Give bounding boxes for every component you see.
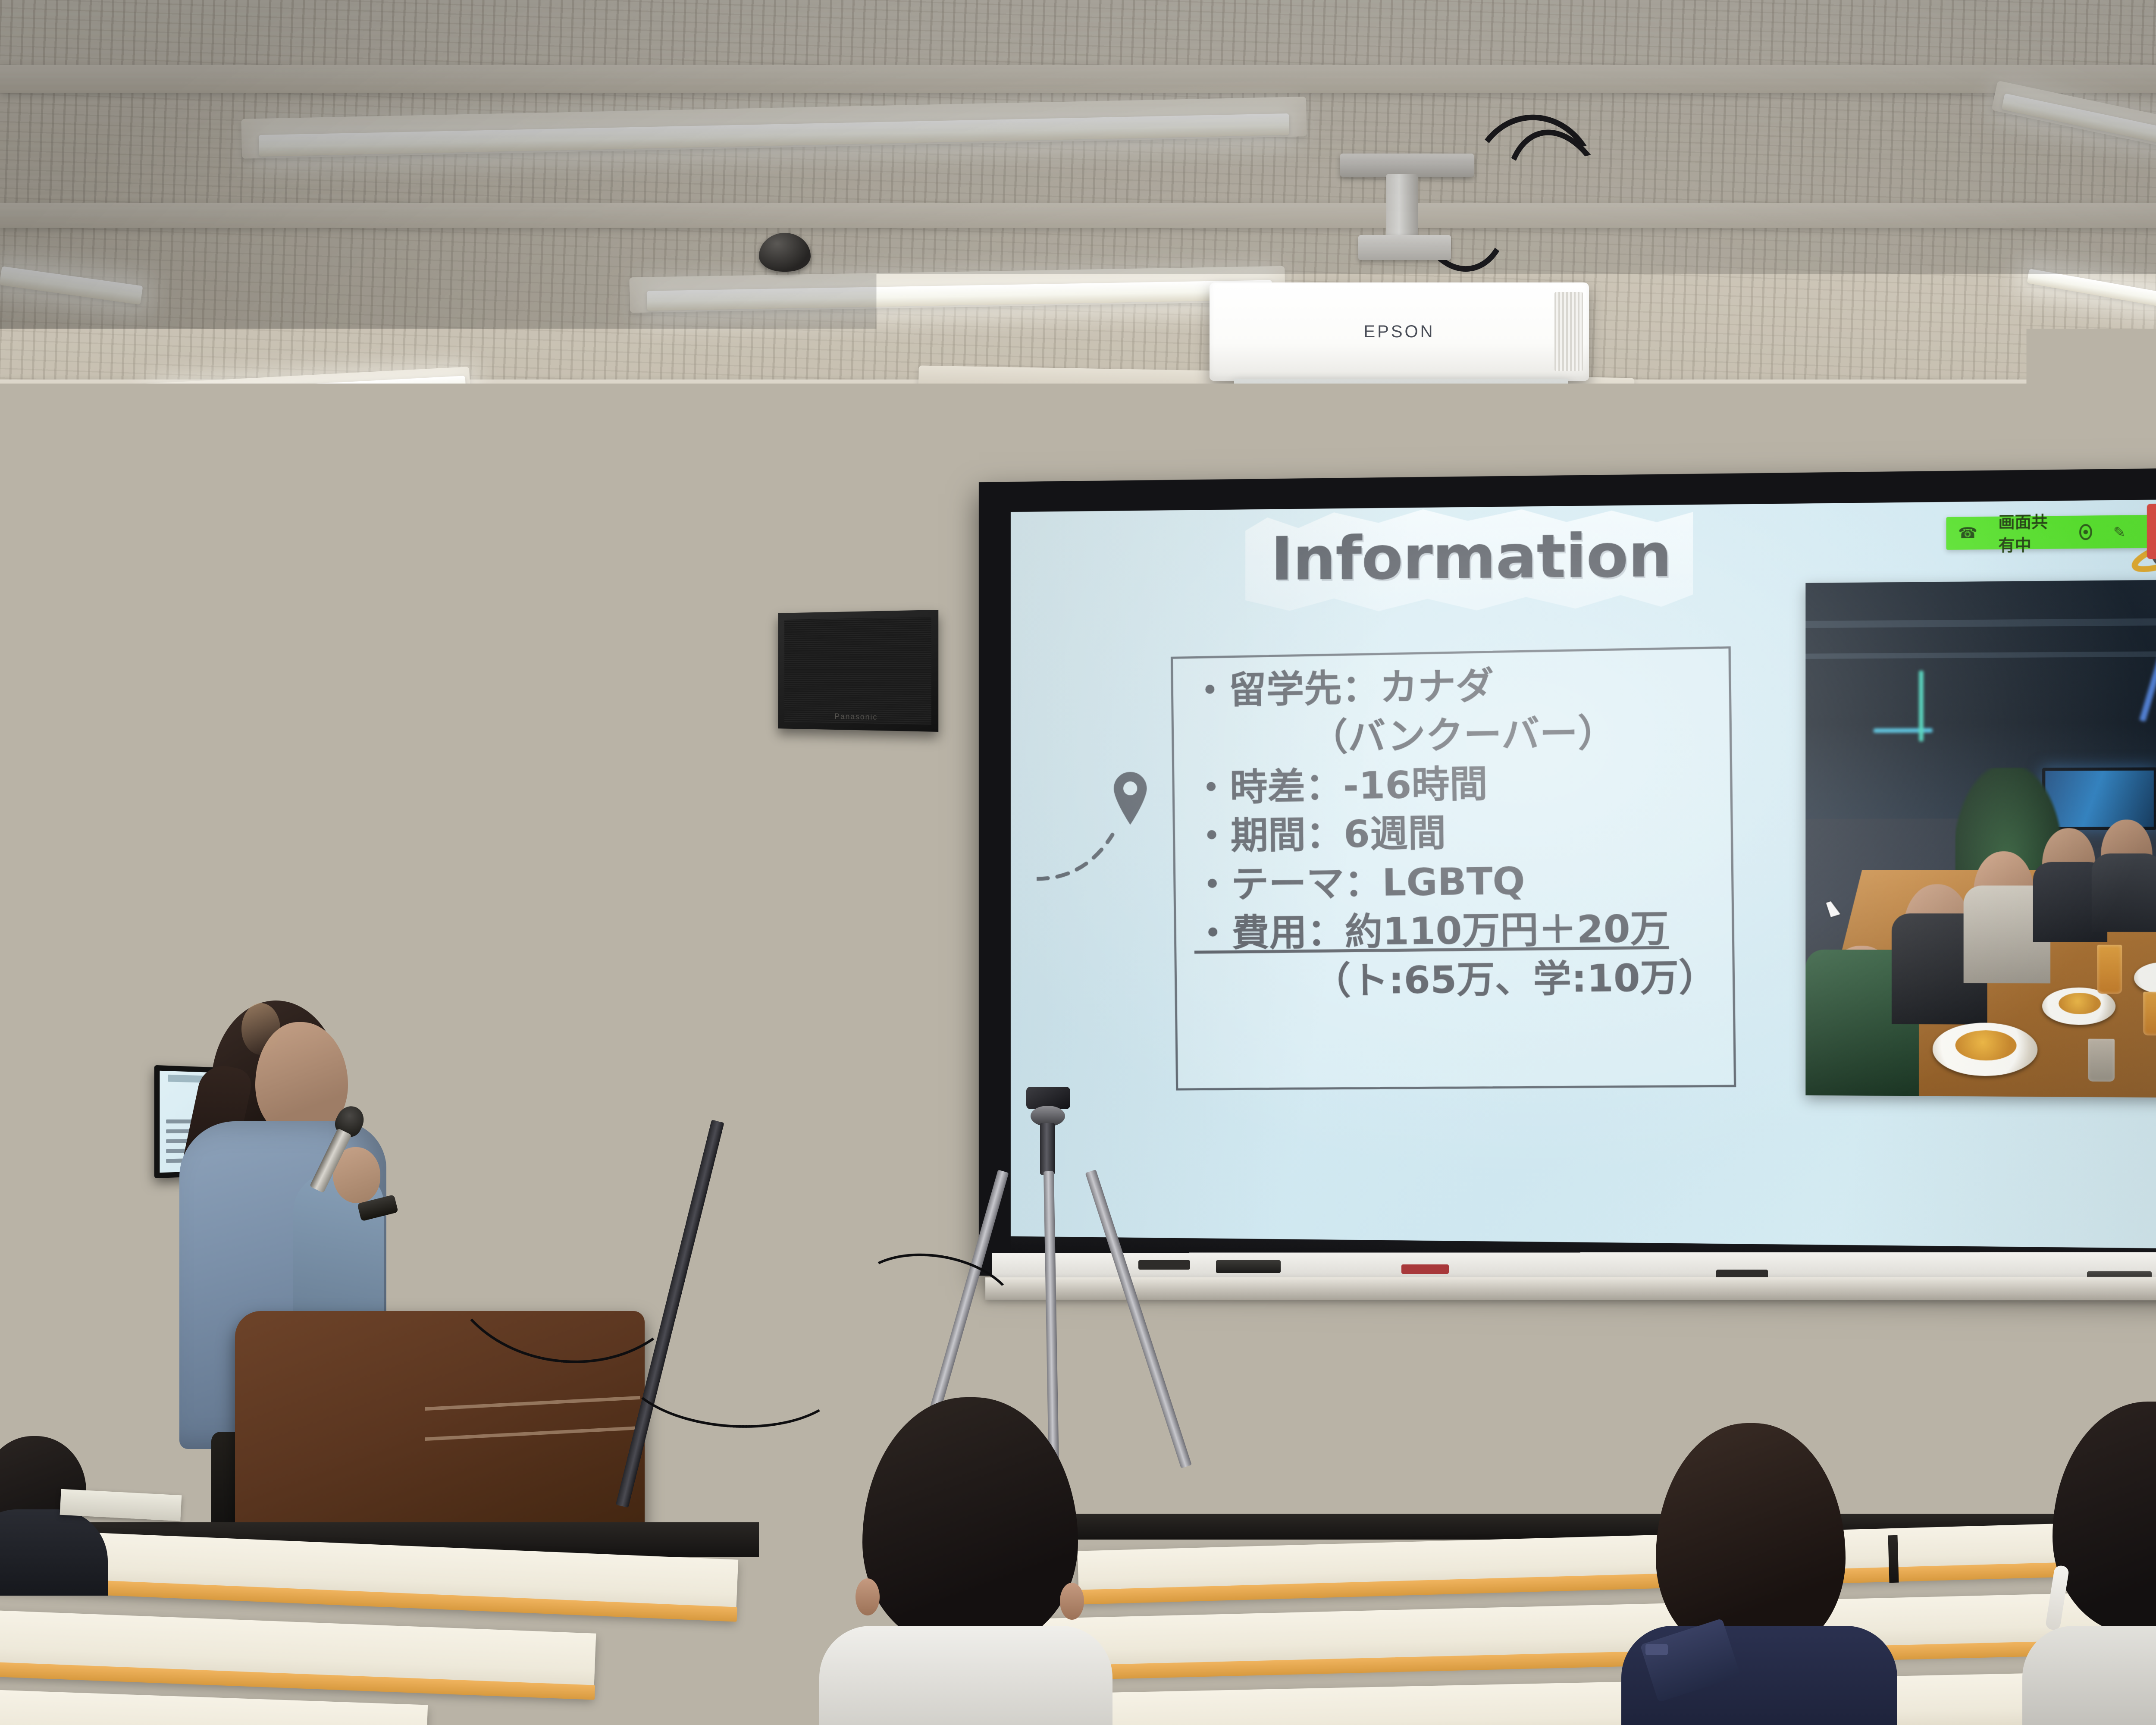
audience-member-right xyxy=(1621,1423,1897,1725)
tripod-1-leg-center[interactable] xyxy=(759,1121,784,1501)
lecture-hall-scene: EPSON Information xyxy=(0,0,2156,1725)
projector-lens-housing xyxy=(1234,379,1568,414)
av-led-green-1 xyxy=(64,1268,71,1273)
ceiling-projector: EPSON xyxy=(1210,282,1589,381)
audience-member-far-right xyxy=(2018,1402,2156,1725)
slide-title: Information xyxy=(1254,520,1688,594)
podium-groove-1 xyxy=(425,1396,640,1411)
audience-1-head xyxy=(862,1397,1078,1647)
bullet-row-timediff: ・時差：-16時間 xyxy=(1192,756,1742,813)
audience-1-ear-right xyxy=(1060,1583,1084,1620)
photo-person-5-body xyxy=(2092,853,2156,932)
presenter-hair-highlight xyxy=(241,1003,280,1055)
audience-member-far-left xyxy=(0,1436,112,1609)
bullet-row-city: （バンクーバー） xyxy=(1191,707,1742,765)
projection-screen-surface: Information ・留学先：カナダ （バンクーバー） ・時差：-16時間 … xyxy=(1011,499,2156,1249)
share-status-label: 画面共有中 xyxy=(1998,509,2058,556)
wall-lower-seam-3 xyxy=(1958,1285,1959,1725)
av-led-yellow xyxy=(142,1308,149,1312)
bullet-row-duration: ・期間：6週間 xyxy=(1193,805,1743,861)
audience-1-shoulders xyxy=(819,1626,1112,1725)
audience-4-shoulders xyxy=(0,1509,108,1596)
sprinkler-head xyxy=(1794,388,1819,402)
record-dot-icon[interactable] xyxy=(2079,524,2092,540)
av-led-red-2 xyxy=(127,1267,146,1275)
audience-3-face-mask-strap xyxy=(2045,1565,2069,1631)
tripod-2-column xyxy=(1040,1123,1055,1175)
wall-seam-1 xyxy=(517,466,519,1285)
audience-member-front-center xyxy=(811,1397,1104,1725)
photo-neon-4 xyxy=(1919,671,1924,741)
wall-camera-box xyxy=(841,498,880,537)
speaker-mount-bracket xyxy=(816,546,864,602)
photo-glass-1 xyxy=(2097,945,2122,994)
mouse-cursor-icon xyxy=(1826,900,1840,917)
stop-share-button[interactable]: 共有の停止 xyxy=(2147,503,2156,559)
pencil-icon[interactable]: ✎ xyxy=(2113,524,2126,539)
audience-3-shoulders xyxy=(2022,1626,2156,1725)
projector-mount-plate xyxy=(1340,154,1474,177)
ceiling-band-1 xyxy=(0,65,2156,93)
audience-1-ear-left xyxy=(856,1578,880,1615)
projection-screen-frame: Information ・留学先：カナダ （バンクーバー） ・時差：-16時間 … xyxy=(979,467,2156,1291)
bullet-row-cost: ・費用：約110万円＋20万 xyxy=(1194,907,1669,956)
projector-mount-yoke xyxy=(1358,235,1451,260)
av-led-green-2 xyxy=(157,1475,164,1480)
ceiling-sensor xyxy=(241,405,289,426)
photo-glass-3 xyxy=(2088,1039,2115,1082)
audience-3-head xyxy=(2053,1402,2156,1634)
whiteboard-eraser[interactable] xyxy=(1216,1260,1281,1273)
podium-groove-2 xyxy=(425,1426,640,1441)
wall-speaker: Panasonic xyxy=(778,610,938,732)
bullet-row-destination: ・留学先：カナダ xyxy=(1191,657,1741,716)
tripod-1-column xyxy=(757,1016,773,1115)
whiteboard-marker-2[interactable] xyxy=(1401,1264,1449,1274)
tripod-1-label-tag xyxy=(793,1237,809,1248)
phone-icon[interactable]: ☎ xyxy=(1958,524,1977,543)
audience-2-epaulette xyxy=(1645,1644,1668,1655)
group-dinner-photo xyxy=(1805,579,2156,1098)
projector-mount-pole xyxy=(1386,174,1418,239)
bullet-row-theme: ・テーマ：LGBTQ xyxy=(1193,854,1743,910)
whiteboard-tray xyxy=(985,1277,2156,1300)
photo-glass-2 xyxy=(2143,991,2156,1035)
projector-brand-label: EPSON xyxy=(1210,322,1589,342)
curtain-fold-1 xyxy=(30,466,34,1371)
location-pin-icon xyxy=(1110,771,1150,826)
audience-2-head xyxy=(1656,1423,1846,1656)
photo-food-2 xyxy=(1955,1030,2017,1061)
screen-share-bar: ☎ 画面共有中 ✎ 共有の停止 xyxy=(1946,514,2156,550)
av-led-red-1 xyxy=(122,1218,129,1223)
speaker-grille xyxy=(784,617,931,724)
ceiling-band-2 xyxy=(0,203,2156,228)
bullet-row-cost-breakdown: （ト:65万、学:10万） xyxy=(1194,953,1745,1007)
slide-bullet-list: ・留学先：カナダ （バンクーバー） ・時差：-16時間 ・期間：6週間 ・テーマ… xyxy=(1191,657,1745,1007)
photo-neon-3 xyxy=(1874,728,1933,733)
